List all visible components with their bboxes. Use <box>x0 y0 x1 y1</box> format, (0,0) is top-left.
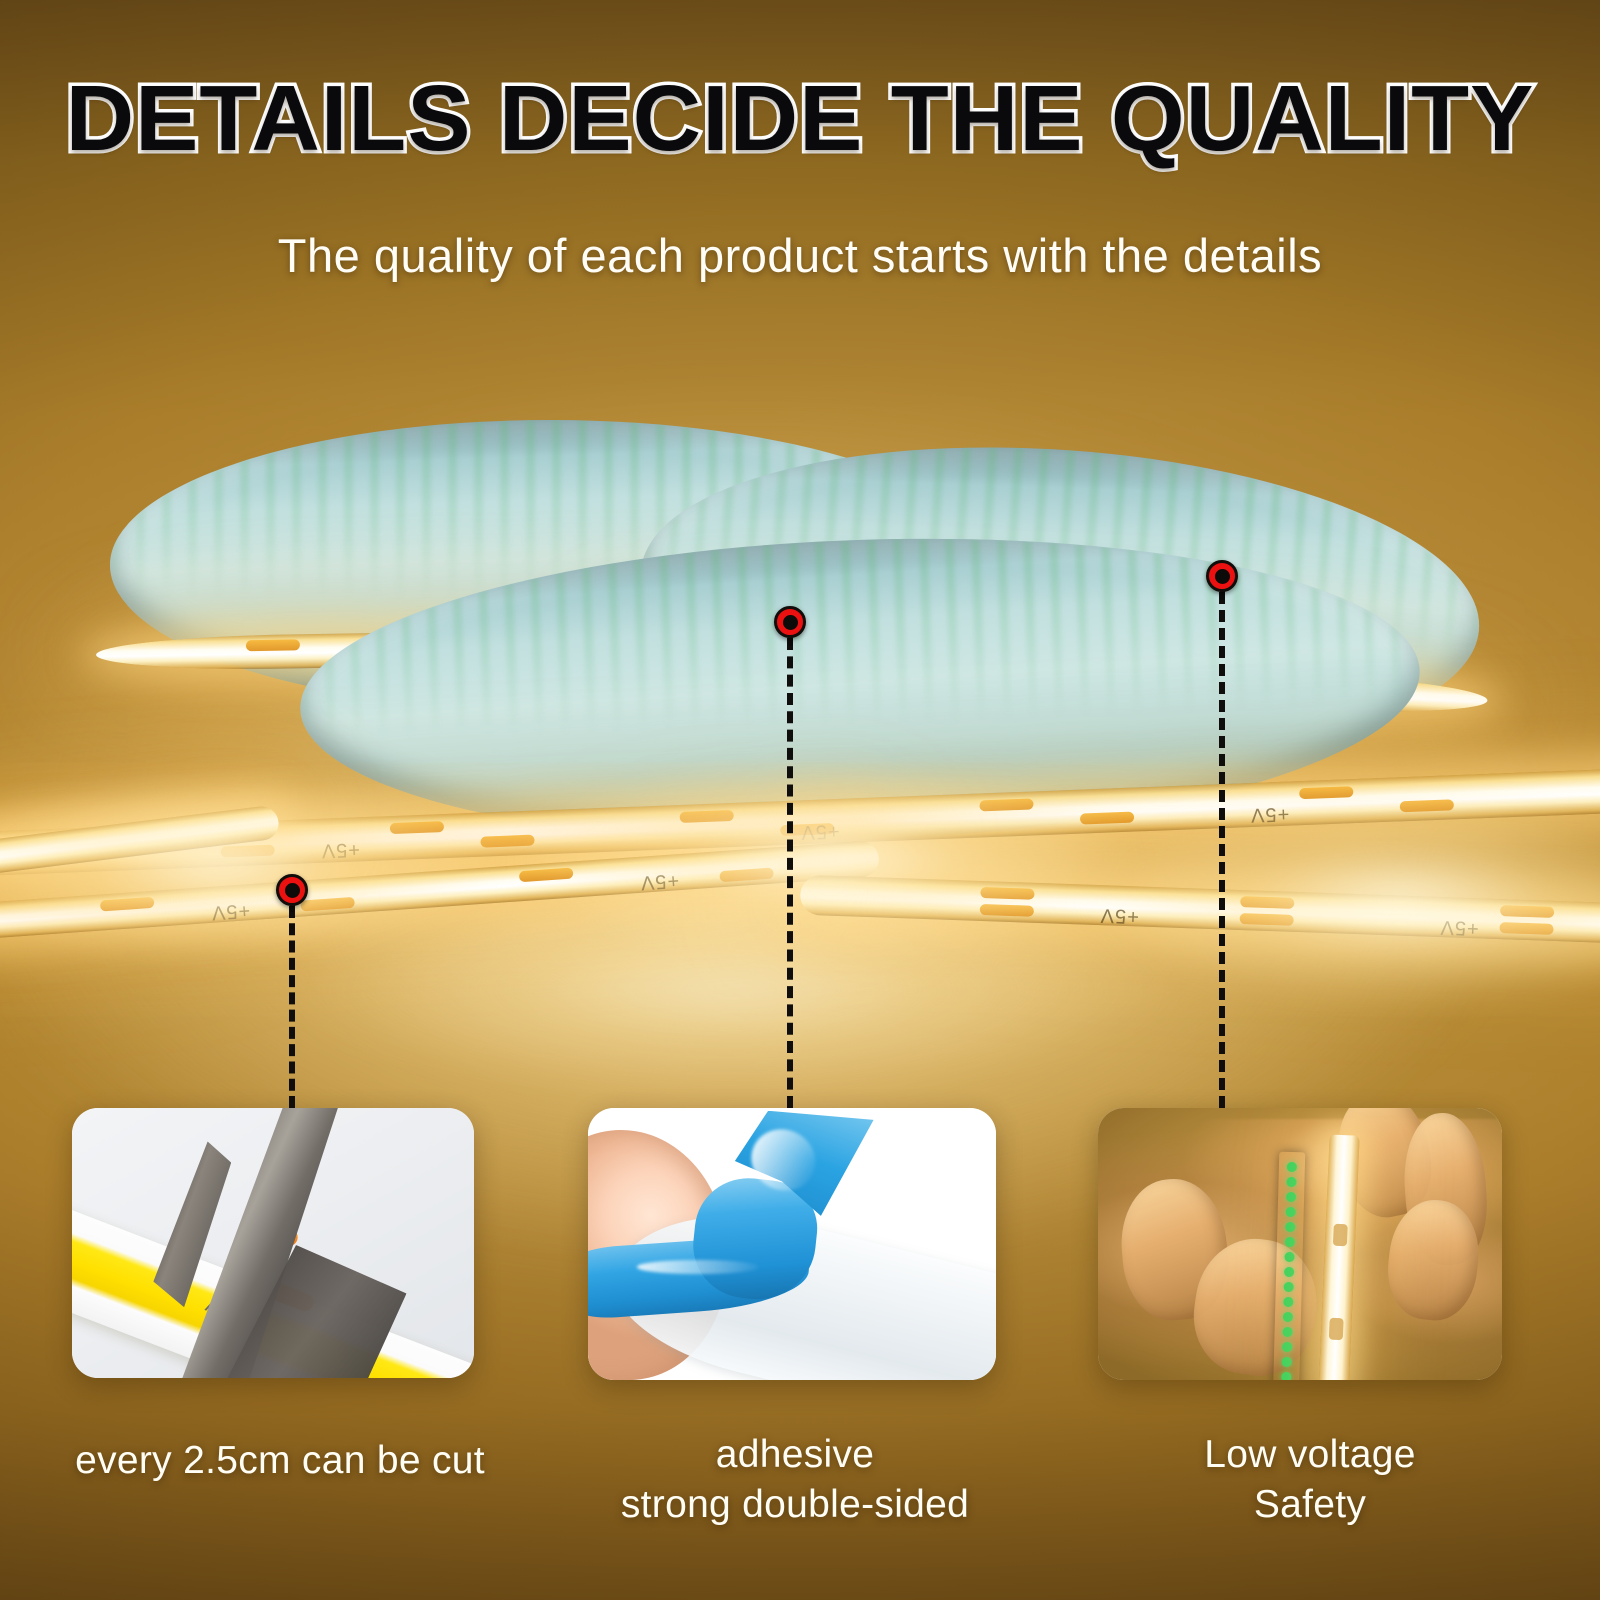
caption-line: adhesive <box>560 1430 1030 1480</box>
feature-image-voltage <box>1098 1108 1502 1380</box>
marker-cut[interactable] <box>276 874 308 906</box>
led-dot <box>1286 1191 1296 1201</box>
feature-panel-cut[interactable]: +5V <box>72 1108 474 1378</box>
leader-line-voltage <box>1219 592 1225 1108</box>
caption-line: strong double-sided <box>560 1480 1030 1530</box>
page-title: DETAILS DECIDE THE QUALITY <box>0 72 1600 165</box>
led-dot <box>1283 1281 1293 1291</box>
leader-line-adhesive <box>787 638 793 1108</box>
solder-pad <box>1329 1318 1344 1341</box>
led-dot <box>1282 1342 1292 1352</box>
led-dot <box>1287 1161 1297 1171</box>
led-dot <box>1281 1357 1291 1367</box>
led-dot <box>1283 1297 1293 1307</box>
solder-pad <box>1333 1224 1348 1247</box>
leader-line-cut <box>289 906 295 1108</box>
caption-line: Safety <box>1100 1480 1520 1530</box>
caption-adhesive: adhesive strong double-sided <box>560 1430 1030 1530</box>
caption-line: Low voltage <box>1100 1430 1520 1480</box>
led-dot <box>1285 1236 1295 1246</box>
feature-panel-voltage[interactable] <box>1098 1108 1502 1380</box>
product-feature-graphic: +5V +5V +5V +5V +5V <box>0 0 1600 1600</box>
caption-line: every 2.5cm can be cut <box>20 1436 540 1486</box>
feature-image-adhesive <box>588 1108 996 1380</box>
marker-voltage[interactable] <box>1206 560 1238 592</box>
led-dot <box>1284 1266 1294 1276</box>
page-subtitle: The quality of each product starts with … <box>0 228 1600 283</box>
feature-image-cut: +5V <box>72 1108 474 1378</box>
glow-bloom <box>280 890 1180 1090</box>
led-dot <box>1284 1251 1294 1261</box>
highlight <box>637 1260 759 1274</box>
led-dot <box>1282 1327 1292 1337</box>
led-dot <box>1286 1176 1296 1186</box>
hero-led-strip-coil: +5V +5V +5V +5V +5V <box>0 330 1600 1090</box>
caption-cut: every 2.5cm can be cut <box>20 1436 540 1486</box>
feature-panel-adhesive[interactable] <box>588 1108 996 1380</box>
caption-voltage: Low voltage Safety <box>1100 1430 1520 1530</box>
led-dot <box>1285 1206 1295 1216</box>
led-dot <box>1283 1312 1293 1322</box>
led-dot <box>1285 1221 1295 1231</box>
led-dot <box>1281 1372 1291 1380</box>
marker-adhesive[interactable] <box>774 606 806 638</box>
